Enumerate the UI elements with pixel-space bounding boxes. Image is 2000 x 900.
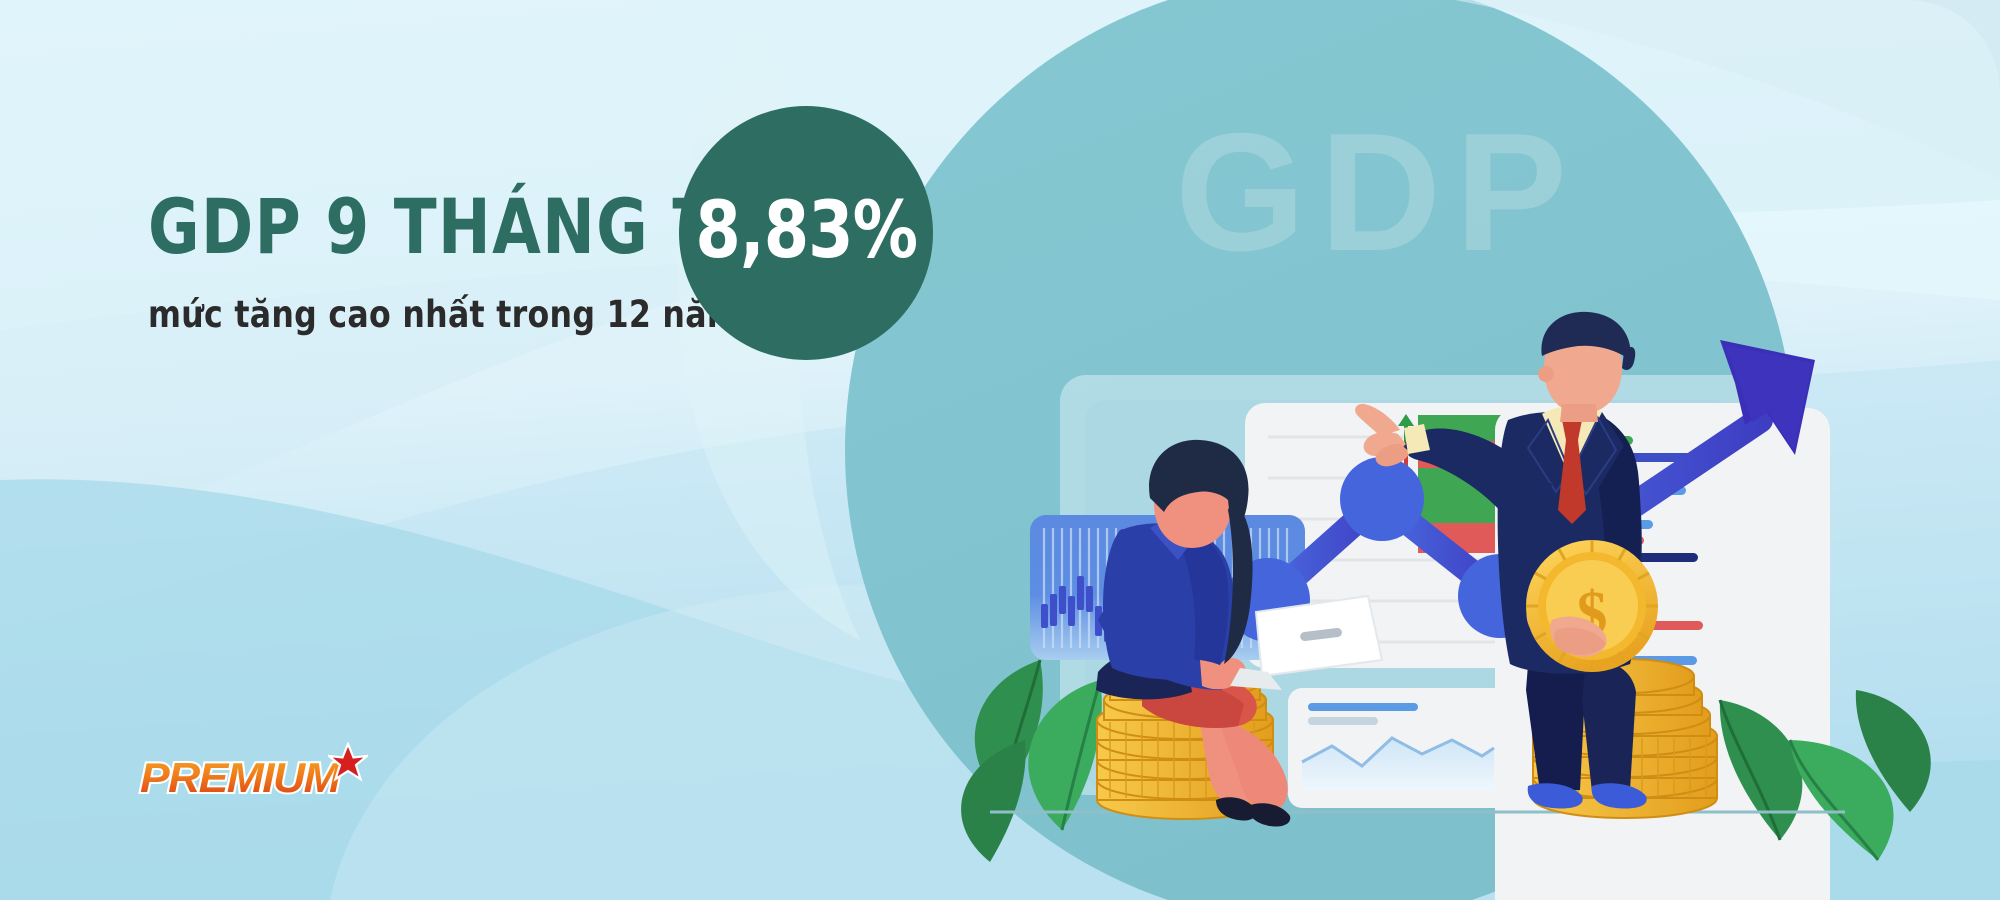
mini-area-chart-card bbox=[1288, 688, 1508, 808]
star-icon bbox=[328, 742, 368, 782]
percent-badge: 8,83% bbox=[679, 106, 933, 360]
percent-value: 8,83% bbox=[695, 186, 917, 276]
trend-node bbox=[1340, 457, 1424, 541]
gdp-infographic-banner: GDP bbox=[0, 0, 2000, 900]
premium-logo-text: PREMIUM bbox=[140, 754, 339, 802]
leaf-decoration-left bbox=[961, 660, 1102, 862]
premium-logo[interactable]: PREMIUM PREMIUM bbox=[140, 742, 400, 812]
